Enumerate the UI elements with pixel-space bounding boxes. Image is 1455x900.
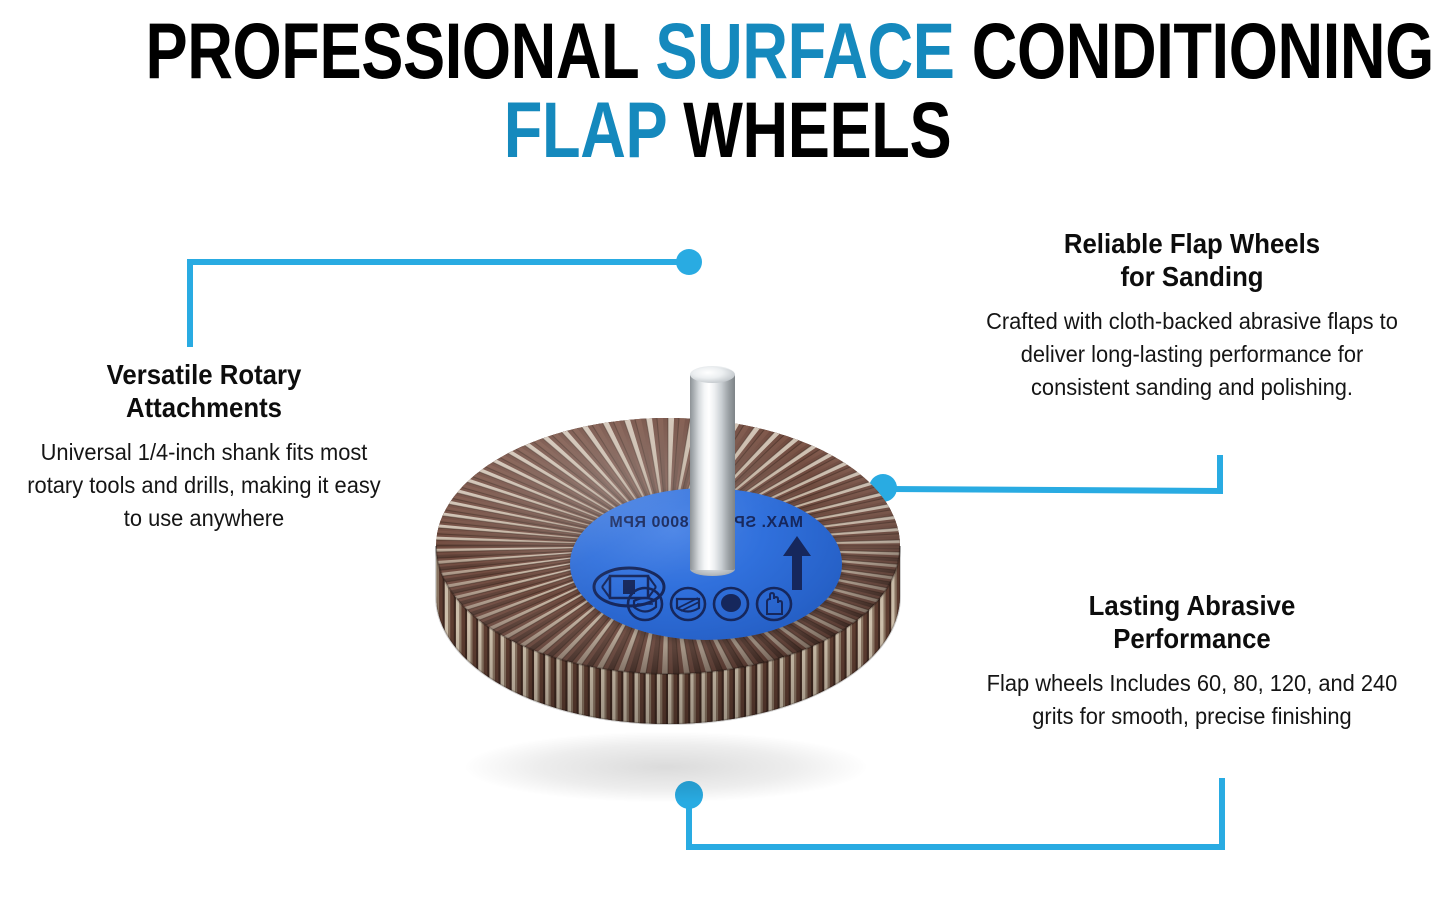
callout-heading-line2: Attachments (126, 392, 282, 423)
ppe-pictogram-row (626, 586, 796, 622)
callout-heading: Versatile RotaryAttachments (18, 359, 390, 425)
dust-mask-icon (626, 586, 664, 622)
callout-body: Crafted with cloth-backed abrasive flaps… (972, 305, 1413, 405)
callout-heading: Reliable Flap Wheelsfor Sanding (974, 228, 1410, 294)
product-image-flap-wheel: 3" MAX. SPEED: 8000 RPM (406, 262, 926, 822)
callout-heading-line2: Performance (1113, 623, 1270, 654)
infographic-canvas: PROFESSIONAL SURFACE CONDITIONING FLAP W… (0, 0, 1455, 900)
rotation-direction-arrow-icon (780, 534, 814, 592)
mandrel-shank-cap (690, 366, 735, 383)
safety-goggles-icon (669, 586, 707, 622)
callout-reliable-flap-wheels-for-sanding: Reliable Flap Wheelsfor Sanding Crafted … (955, 228, 1429, 405)
protective-gloves-icon (755, 586, 793, 622)
callout-lasting-abrasive-performance: Lasting AbrasivePerformance Flap wheels … (955, 590, 1429, 733)
callout-heading: Lasting AbrasivePerformance (974, 590, 1410, 656)
callout-versatile-rotary-attachments: Versatile RotaryAttachments Universal 1/… (2, 359, 406, 536)
callout-heading-line1: Lasting Abrasive (1089, 590, 1296, 621)
callout-body: Universal 1/4-inch shank fits most rotar… (16, 436, 392, 536)
callout-heading-line1: Reliable Flap Wheels (1064, 228, 1320, 259)
callout-body: Flap wheels Includes 60, 80, 120, and 24… (972, 667, 1413, 734)
callout-heading-line1: Versatile Rotary (107, 359, 302, 390)
mandrel-shank (690, 374, 735, 570)
callout-heading-line2: for Sanding (1120, 261, 1263, 292)
ear-protection-icon (712, 586, 750, 622)
flap-wheel-body: 3" MAX. SPEED: 8000 RPM (428, 350, 908, 800)
